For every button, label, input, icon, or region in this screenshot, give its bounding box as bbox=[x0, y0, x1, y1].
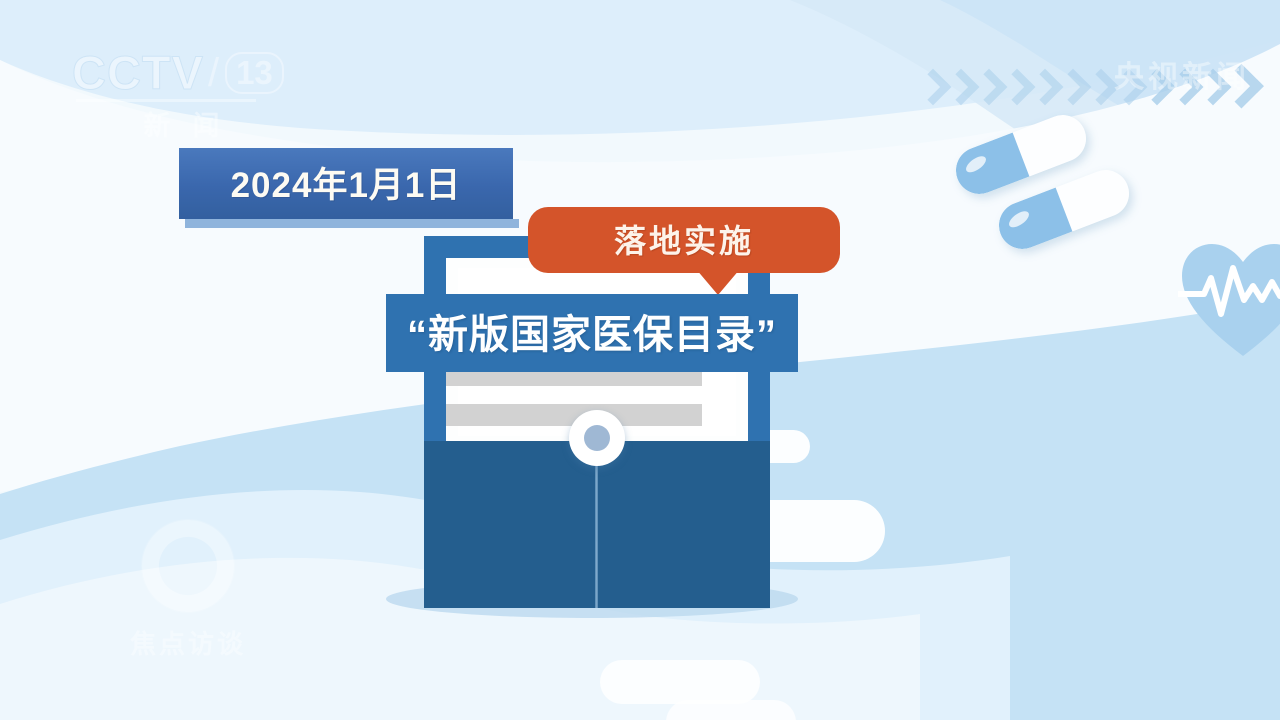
speed-line bbox=[600, 660, 760, 704]
chevron-right-icon bbox=[1223, 63, 1255, 119]
callout-bubble-text: 落地实施 bbox=[614, 223, 754, 259]
callout-bubble: 落地实施 bbox=[528, 207, 840, 273]
chevron-right-icon bbox=[1086, 68, 1112, 114]
callout-bubble-body: 落地实施 bbox=[528, 207, 840, 273]
chevron-arrow-row bbox=[918, 68, 1252, 114]
date-banner-body: 2024年1月1日 bbox=[179, 148, 513, 219]
chevron-right-icon bbox=[1058, 68, 1084, 114]
pill-gloss-highlight bbox=[963, 153, 988, 175]
date-banner: 2024年1月1日 bbox=[179, 148, 513, 228]
pill-gloss-highlight bbox=[1006, 208, 1031, 230]
date-banner-shadow-bar bbox=[185, 219, 519, 228]
broadcast-graphic-stage: 央视新闻 CCTV / 13 新闻 焦点访谈 bbox=[0, 0, 1280, 720]
chevron-right-icon bbox=[1170, 68, 1196, 114]
chevron-right-icon bbox=[1142, 68, 1168, 114]
briefcase-clasp-core bbox=[584, 425, 610, 451]
chevron-right-icon bbox=[946, 68, 972, 114]
chevron-right-icon bbox=[1002, 68, 1028, 114]
chevron-right-icon bbox=[1030, 68, 1056, 114]
briefcase-body-right bbox=[597, 441, 770, 608]
chevron-right-icon bbox=[1114, 68, 1140, 114]
main-title-text: “新版国家医保目录” bbox=[407, 313, 777, 357]
chevron-right-icon bbox=[974, 68, 1000, 114]
chevron-right-icon bbox=[918, 68, 944, 114]
date-banner-text: 2024年1月1日 bbox=[231, 166, 462, 205]
heart-ecg-icon bbox=[1178, 238, 1280, 360]
briefcase-body-left bbox=[424, 441, 596, 608]
chevron-right-icon bbox=[1198, 68, 1224, 114]
speed-line bbox=[666, 700, 796, 720]
callout-bubble-tail bbox=[696, 269, 740, 295]
briefcase-clasp bbox=[569, 410, 625, 466]
main-title-bar: “新版国家医保目录” bbox=[386, 294, 798, 372]
briefcase-seam bbox=[595, 441, 598, 608]
